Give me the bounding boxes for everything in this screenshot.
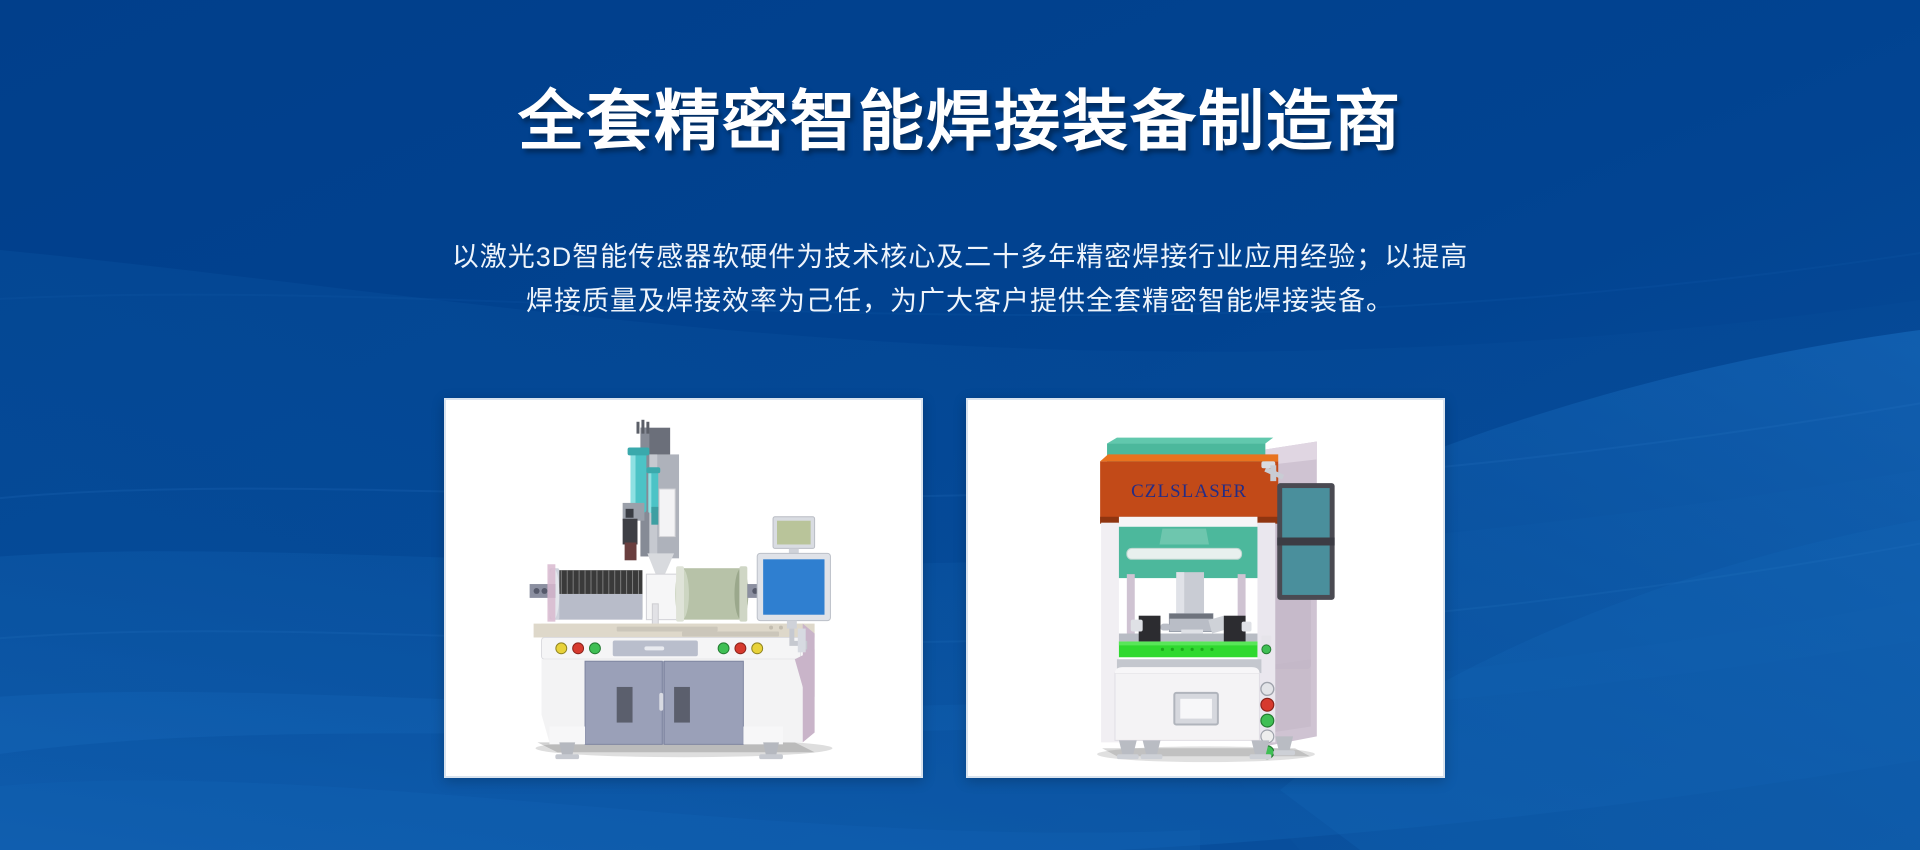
product-image-row: CZLSLASER — [0, 398, 1920, 780]
banner-subtitle: 以激光3D智能传感器软硬件为技术核心及二十多年精密焊接行业应用经验；以提高 焊接… — [0, 236, 1920, 323]
product-card-right[interactable]: CZLSLASER — [966, 398, 1445, 778]
product-card-left[interactable] — [444, 398, 923, 778]
page-title: 全套精密智能焊接装备制造商 — [0, 88, 1920, 154]
welding-bench-machine-illustration — [446, 400, 921, 776]
subtitle-line-1: 以激光3D智能传感器软硬件为技术核心及二十多年精密焊接行业应用经验；以提高 — [0, 236, 1920, 280]
brand-label: CZLSLASER — [1131, 481, 1247, 502]
subtitle-line-2: 焊接质量及焊接效率为己任，为广大客户提供全套精密智能焊接装备。 — [0, 280, 1920, 324]
hero-banner: 全套精密智能焊接装备制造商 以激光3D智能传感器软硬件为技术核心及二十多年精密焊… — [0, 0, 1920, 850]
czlslaser-vertical-machine-illustration: CZLSLASER — [968, 400, 1443, 776]
